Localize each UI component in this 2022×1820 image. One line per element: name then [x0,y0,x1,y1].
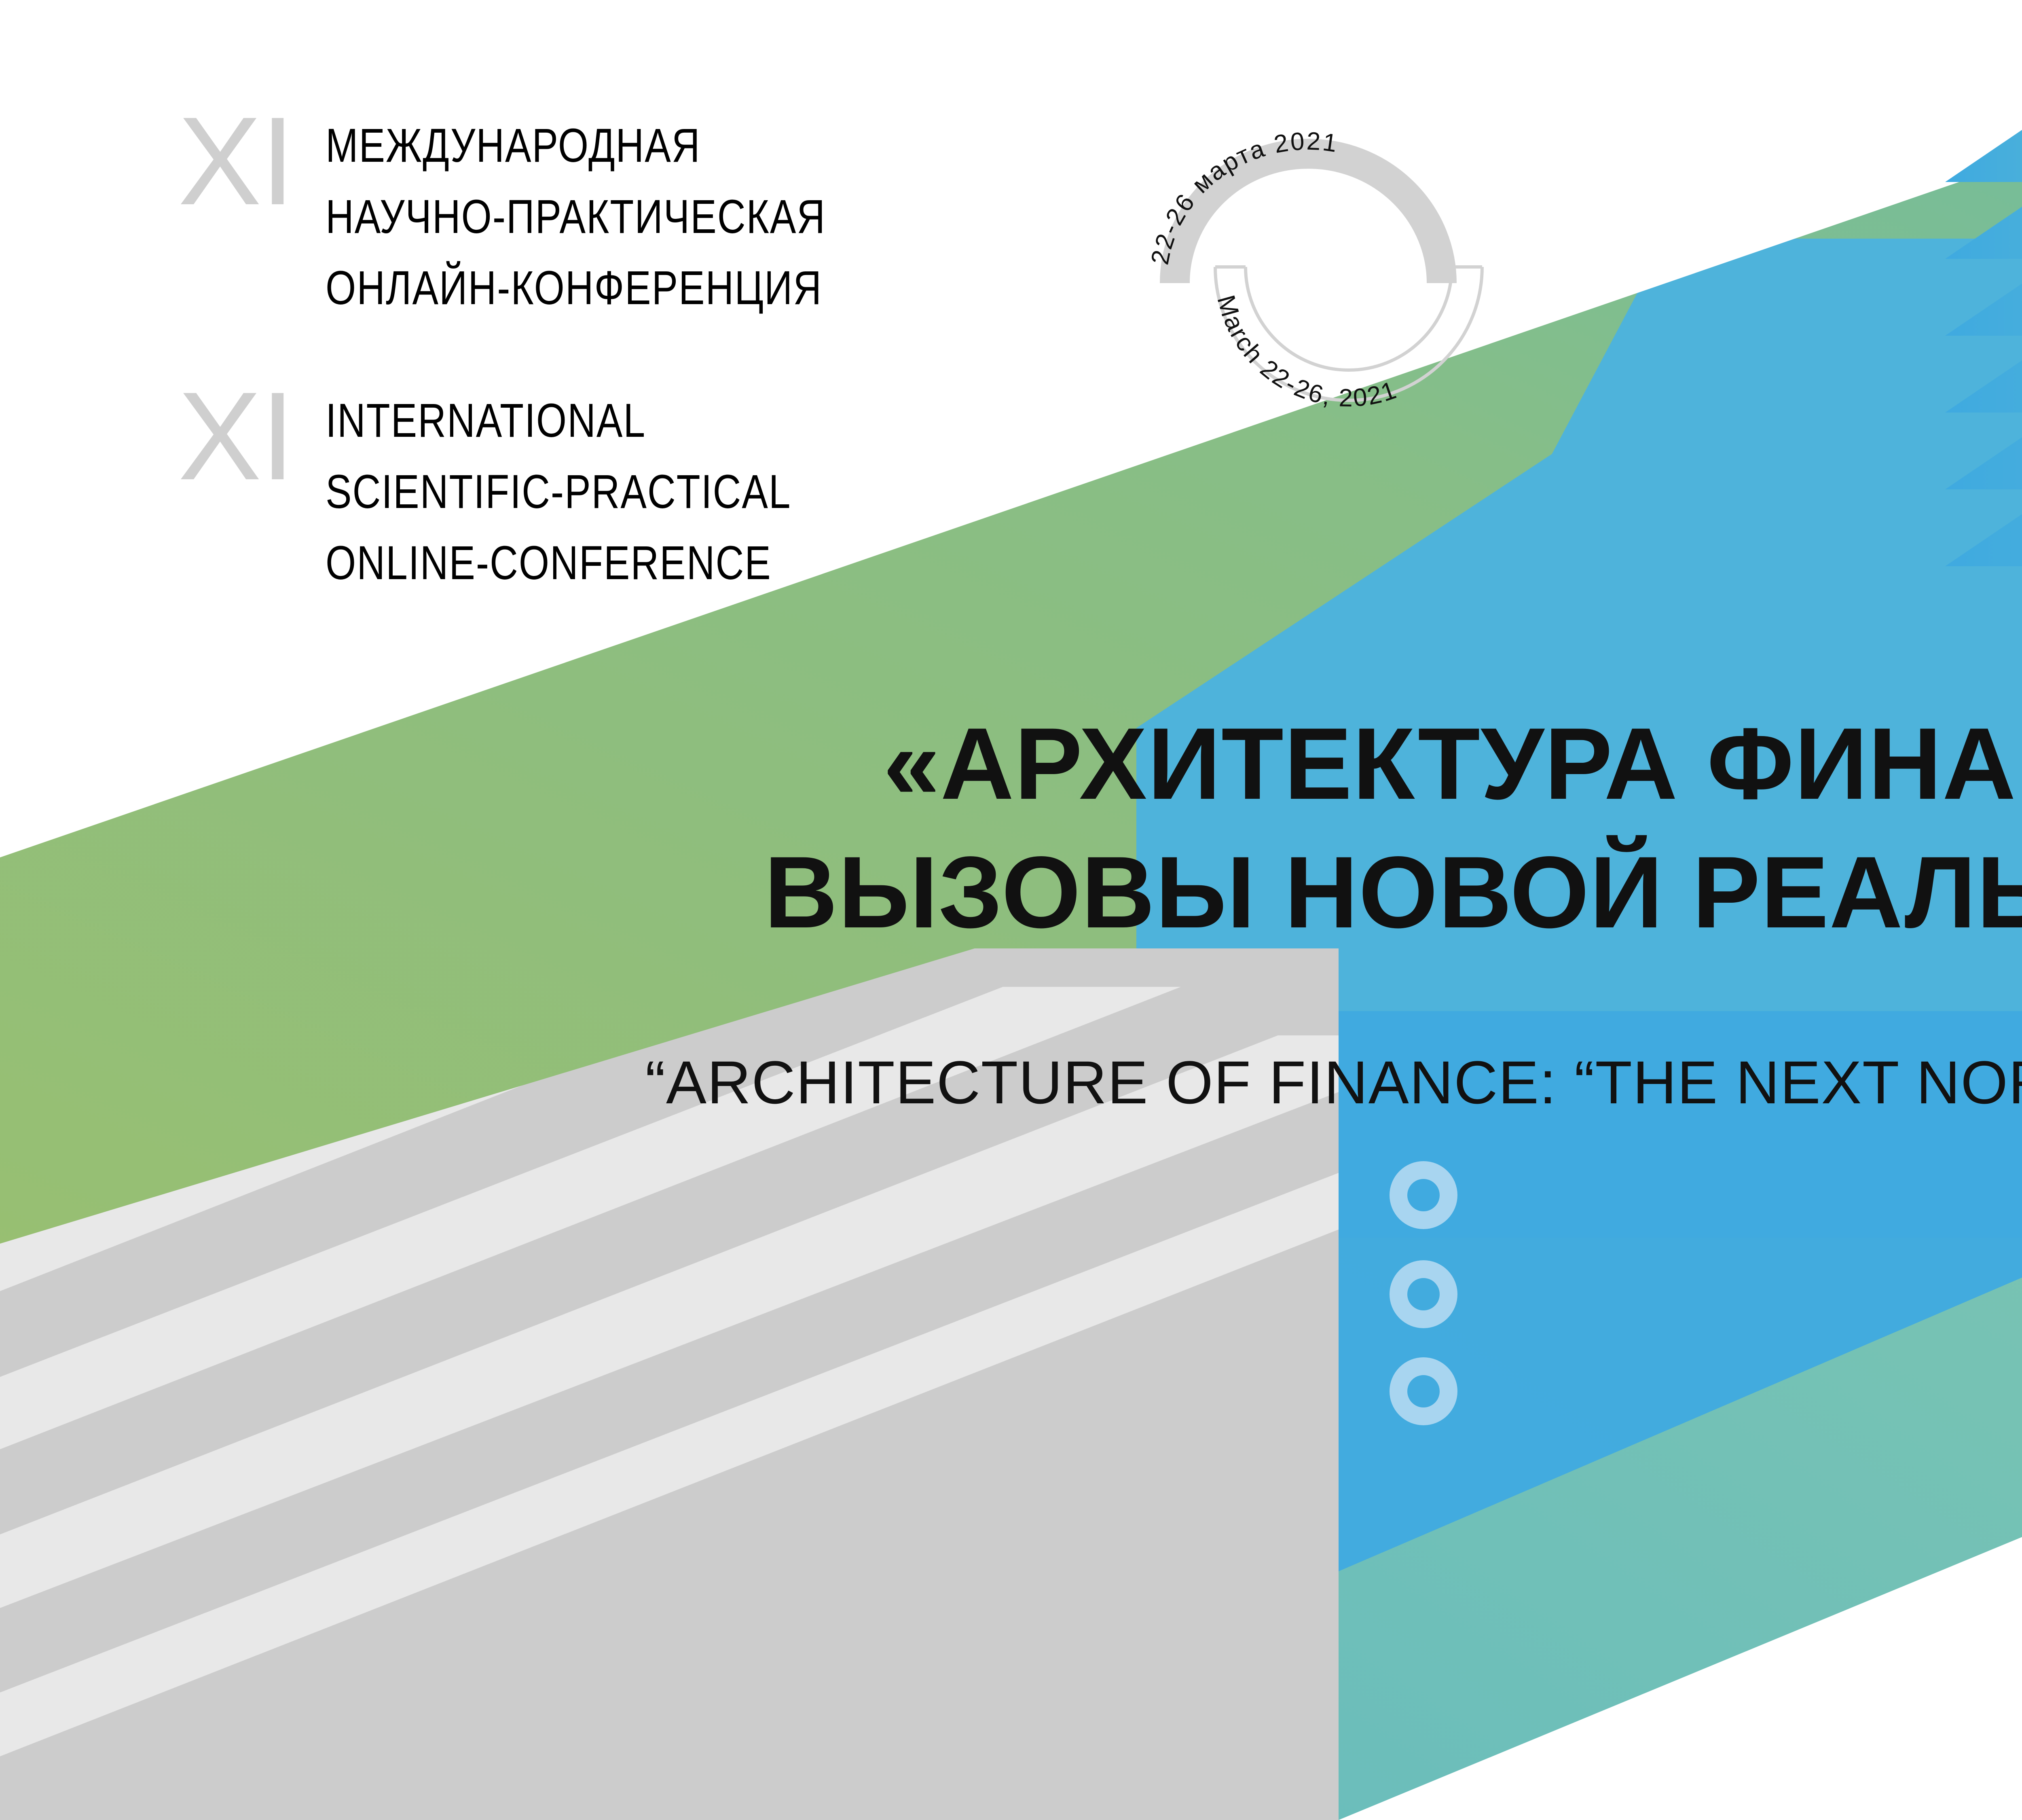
roman-numeral-ru: XI [178,103,294,218]
conference-lines-en: INTERNATIONAL SCIENTIFIC-PRACTICAL ONLIN… [326,385,893,599]
main-title-line-2: ВЫЗОВЫ НОВОЙ РЕАЛЬНОСТИ» [0,828,2022,957]
date-badge: 22-26 марта 2021 March 22-26, 2021 [1128,73,1537,437]
conference-title-ru: XI МЕЖДУНАРОДНАЯ НАУЧНО-ПРАКТИЧЕСКАЯ ОНЛ… [178,103,935,324]
main-title-line-1: «АРХИТЕКТУРА ФИНАНСОВ: [0,700,2022,828]
badge-date-ru-text: 22-26 марта 2021 [1146,127,1340,267]
badge-date-en-text: March 22-26, 2021 [1212,292,1401,412]
roman-numeral-en: XI [178,378,294,493]
conference-lines-ru: МЕЖДУНАРОДНАЯ НАУЧНО-ПРАКТИЧЕСКАЯ ОНЛАЙН… [326,110,936,324]
conference-slide: XI МЕЖДУНАРОДНАЯ НАУЧНО-ПРАКТИЧЕСКАЯ ОНЛ… [0,0,2022,1820]
badge-date-ru: 22-26 марта 2021 [1146,127,1340,267]
conference-line-ru-2: НАУЧНО-ПРАКТИЧЕСКАЯ [326,182,826,253]
conference-line-en-2: SCIENTIFIC-PRACTICAL [326,457,791,528]
conference-line-ru-1: МЕЖДУНАРОДНАЯ [326,110,826,182]
main-subtitle-en: “ARCHITECTURE OF FINANCE: “THE NEXT NORM… [0,1048,2022,1117]
conference-title-en: XI INTERNATIONAL SCIENTIFIC-PRACTICAL ON… [178,378,893,599]
badge-date-en: March 22-26, 2021 [1212,292,1401,412]
conference-line-en-1: INTERNATIONAL [326,385,791,457]
main-title: «АРХИТЕКТУРА ФИНАНСОВ: ВЫЗОВЫ НОВОЙ РЕАЛ… [0,700,2022,957]
conference-line-ru-3: ОНЛАЙН-КОНФЕРЕНЦИЯ [326,253,826,324]
conference-line-en-3: ONLINE-CONFERENCE [326,528,791,599]
